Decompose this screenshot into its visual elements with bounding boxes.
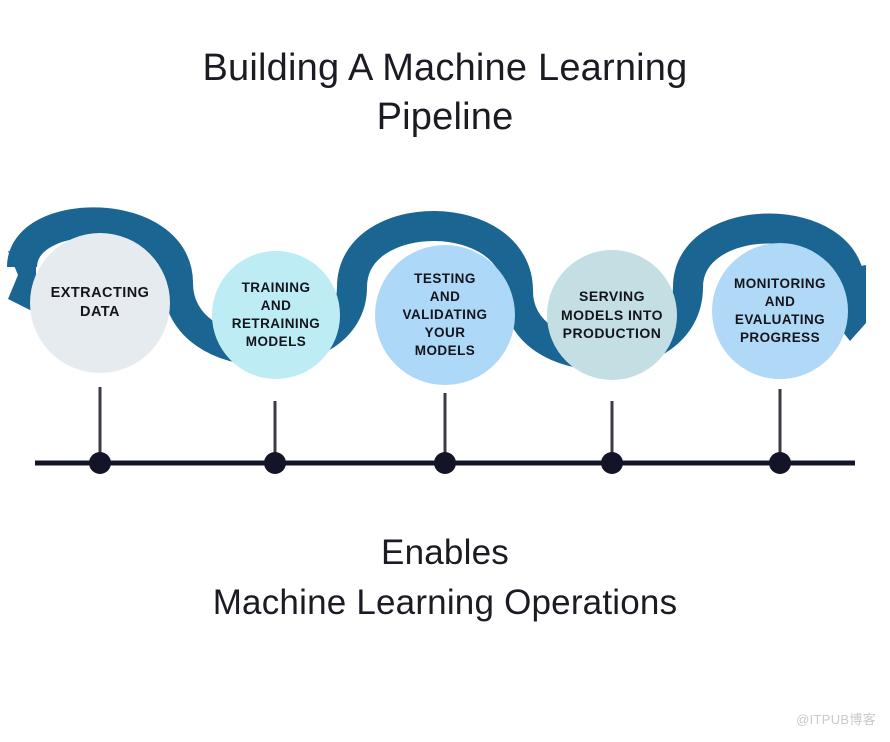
step-label-1: EXTRACTING DATA — [45, 284, 156, 322]
footer-line-2: Machine Learning Operations — [0, 578, 890, 628]
infographic-canvas: Building A Machine Learning Pipeline EXT… — [0, 0, 890, 742]
timeline-dot-3[interactable] — [434, 452, 456, 474]
footer-line-1: Enables — [0, 528, 890, 578]
title-line-2: Pipeline — [0, 93, 890, 142]
step-label-2: TRAINING AND RETRAINING MODELS — [226, 279, 327, 350]
page-title: Building A Machine Learning Pipeline — [0, 44, 890, 141]
step-label-4: SERVING MODELS INTO PRODUCTION — [555, 287, 669, 342]
watermark: @ITPUB博客 — [796, 709, 876, 728]
timeline-dot-5[interactable] — [769, 452, 791, 474]
timeline-dot-4[interactable] — [601, 452, 623, 474]
timeline-dot-2[interactable] — [264, 452, 286, 474]
timeline-graphic — [0, 345, 890, 490]
pipeline-stage: EXTRACTING DATA TRAINING AND RETRAINING … — [0, 195, 890, 495]
timeline-dot-1[interactable] — [89, 452, 111, 474]
step-label-5: MONITORING AND EVALUATING PROGRESS — [728, 275, 832, 346]
title-line-1: Building A Machine Learning — [0, 44, 890, 93]
footer-caption: Enables Machine Learning Operations — [0, 528, 890, 627]
